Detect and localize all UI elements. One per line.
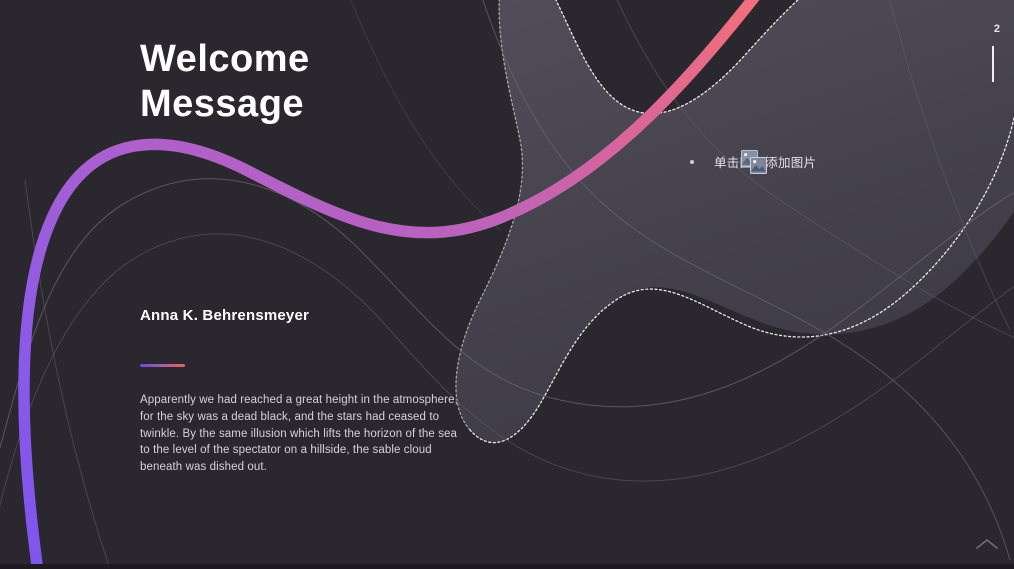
page-title: Welcome Message (140, 37, 560, 127)
gradient-divider (140, 364, 185, 367)
blob-outline-dotted (520, 0, 880, 114)
page-number-rule (992, 46, 994, 82)
thin-curve-5 (880, 0, 1010, 330)
thin-curve-1 (0, 179, 1014, 560)
page-number: 2 (994, 23, 1000, 35)
slide-canvas: Welcome Message Anna K. Behrensmeyer App… (0, 0, 1014, 569)
bottom-strip (0, 564, 1014, 569)
body-paragraph: Apparently we had reached a great height… (140, 392, 470, 476)
chevron-up-icon[interactable] (974, 537, 1000, 551)
thin-curve-6 (25, 180, 110, 569)
bullet-point-icon (690, 160, 694, 164)
author-name: Anna K. Behrensmeyer (140, 307, 309, 324)
picture-icon[interactable] (741, 150, 767, 174)
